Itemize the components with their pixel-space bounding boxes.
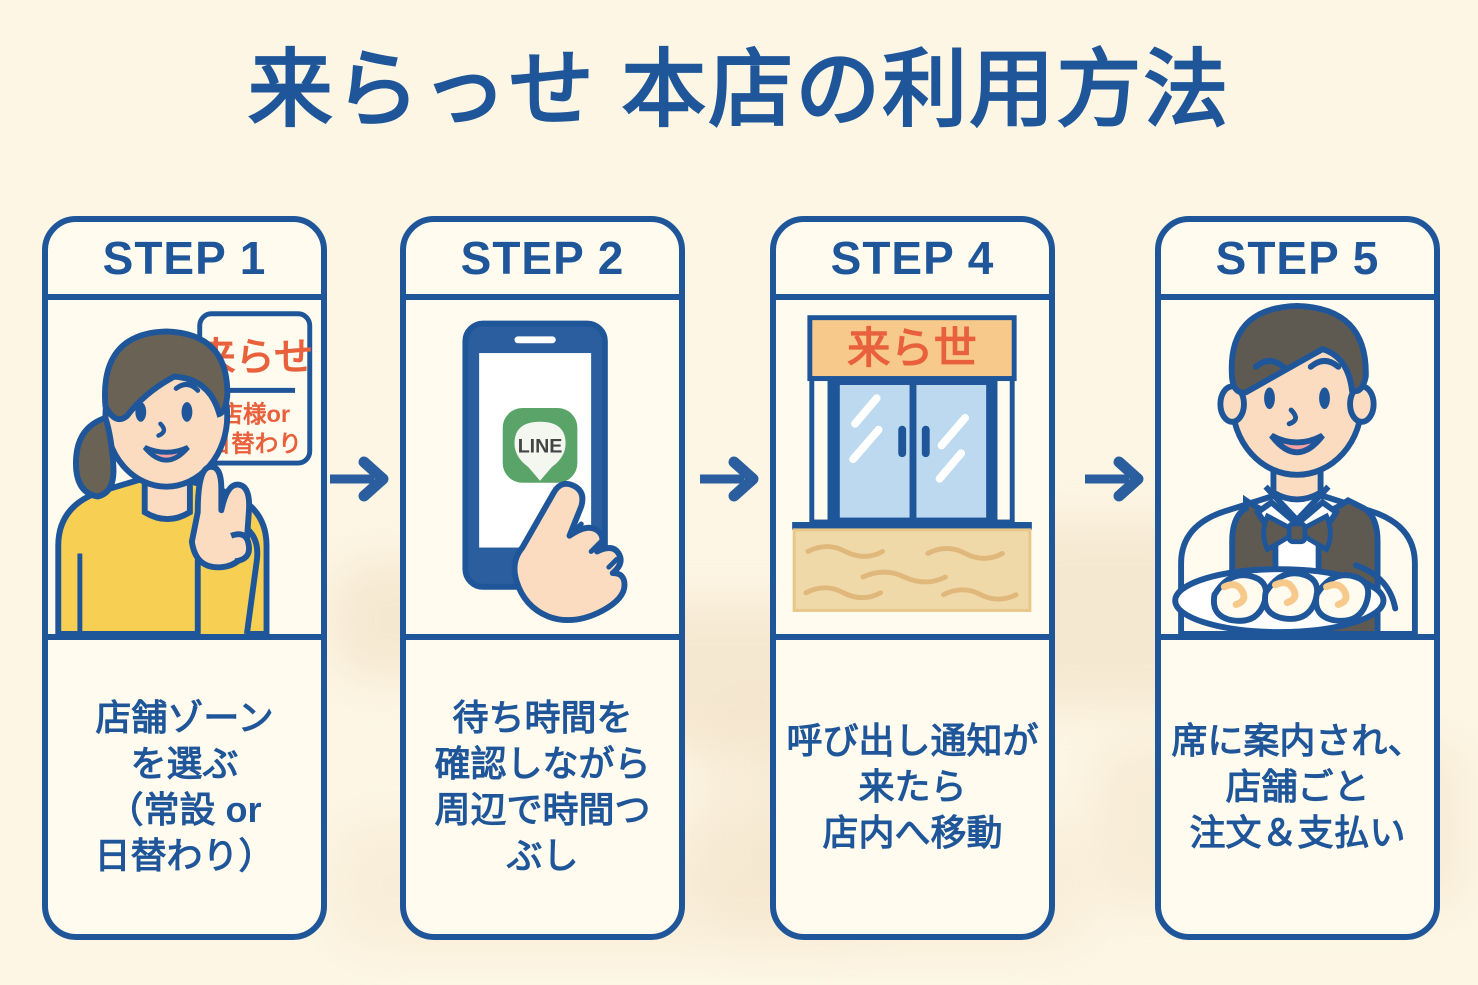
arrow-right-icon	[330, 455, 392, 503]
page-title: 来らっせ 本店の利用方法	[0, 46, 1478, 135]
step-illustration-2: LINE	[406, 300, 679, 640]
waiter-with-plate-icon	[1161, 300, 1434, 634]
step-card-1: STEP 1 来らせ 店様or 日替わり	[42, 216, 327, 940]
step-header-1: STEP 1	[48, 222, 321, 300]
step-card-5: STEP 5	[1155, 216, 1440, 940]
step-header-2: STEP 2	[406, 222, 679, 300]
step-card-4: STEP 4 来ら世	[770, 216, 1055, 940]
storefront-icon: 来ら世	[776, 300, 1049, 634]
arrow-step2-to-step4	[700, 455, 762, 503]
step-caption-2: 待ち時間を 確認しながら 周辺で時間つ ぶし	[406, 640, 679, 934]
arrow-step4-to-step5	[1085, 455, 1147, 503]
arrow-step1-to-step2	[330, 455, 392, 503]
step-illustration-1: 来らせ 店様or 日替わり	[48, 300, 321, 640]
step-header-4: STEP 4	[776, 222, 1049, 300]
woman-with-sign-icon: 来らせ 店様or 日替わり	[48, 300, 321, 634]
step-caption-1: 店舗ゾーン を選ぶ （常設 or 日替わり）	[48, 640, 321, 934]
svg-text:来ら世: 来ら世	[847, 325, 977, 373]
smartphone-line-app-icon: LINE	[406, 300, 679, 634]
step-caption-4: 呼び出し通知が 来たら 店内へ移動	[776, 640, 1049, 934]
step-card-2: STEP 2 LINE 待ち時間を 確認しながら 周辺で時間つ ぶし	[400, 216, 685, 940]
step-illustration-5	[1161, 300, 1434, 640]
infographic-root: 来らっせ 本店の利用方法 STEP 1 来らせ 店様or 日替わり	[0, 0, 1478, 985]
step-caption-5: 席に案内され、 店舗ごと 注文＆支払い	[1161, 640, 1434, 934]
svg-text:LINE: LINE	[518, 435, 563, 457]
step-illustration-4: 来ら世	[776, 300, 1049, 640]
step-header-5: STEP 5	[1161, 222, 1434, 300]
arrow-right-icon	[1085, 455, 1147, 503]
arrow-right-icon	[700, 455, 762, 503]
